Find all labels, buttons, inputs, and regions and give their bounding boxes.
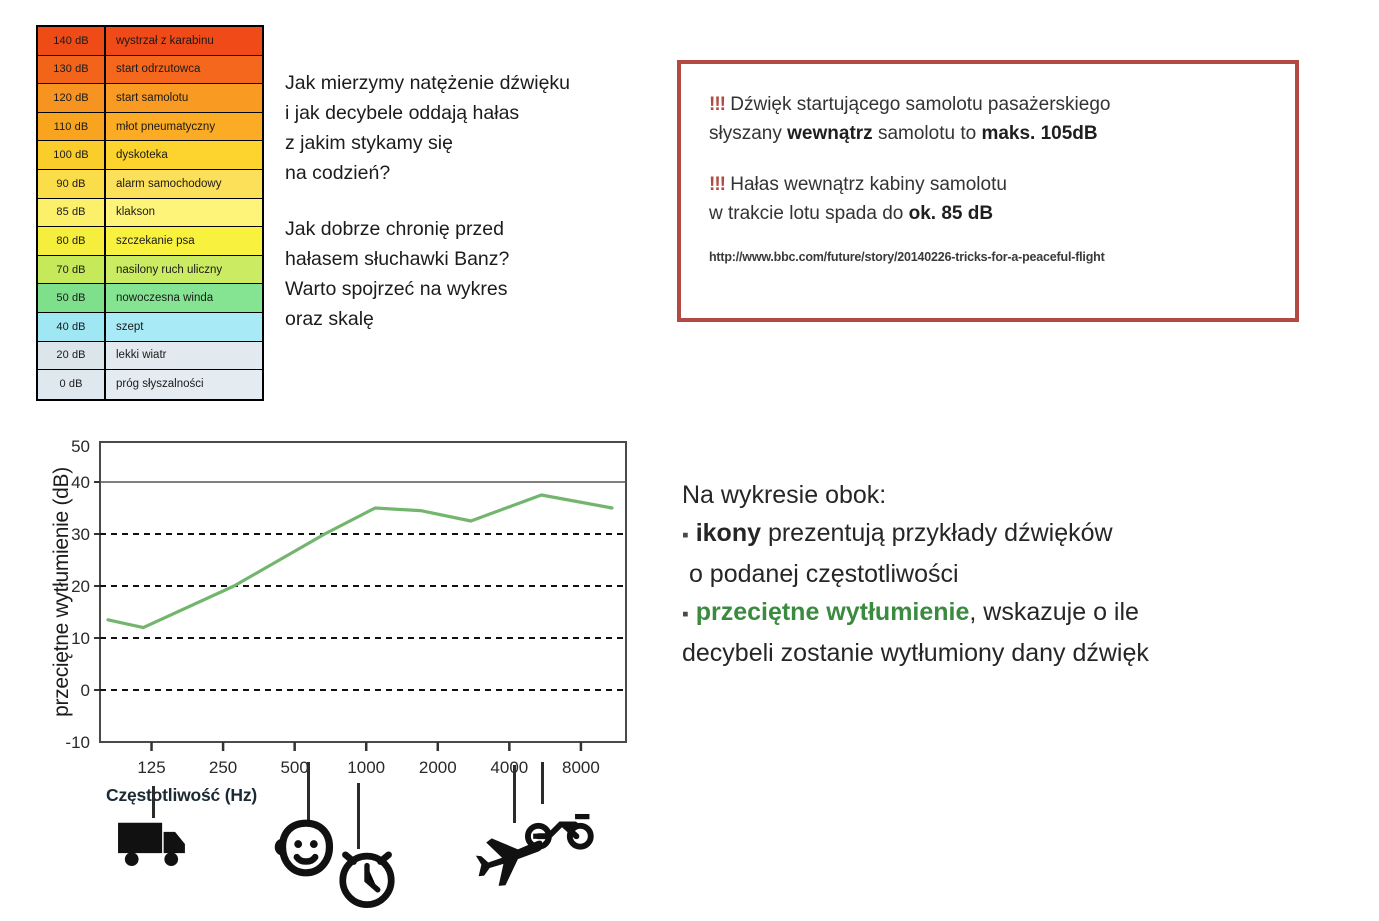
chart-x-tick-label: 125 [137, 758, 165, 777]
sound-reduction-chart: przeciętne wytłumienie (dB) Wykres reduk… [18, 430, 638, 830]
callout-line: w trakcie lotu spada do ok. 85 dB [709, 199, 1269, 228]
table-row: 40 dBszept [38, 313, 262, 342]
explain-highlight: przeciętne wytłumienie [696, 598, 970, 626]
chart-x-tick-label: 500 [280, 758, 308, 777]
db-level-cell: 110 dB [38, 113, 106, 141]
db-level-cell: 40 dB [38, 313, 106, 341]
db-description-cell: start samolotu [106, 84, 262, 112]
chart-plot-svg: 50403020100-101252505001000200040008000 [18, 430, 638, 830]
db-level-cell: 120 dB [38, 84, 106, 112]
intro-paragraph-1: Jak mierzymy natężenie dźwięku i jak dec… [285, 68, 665, 188]
db-description-cell: alarm samochodowy [106, 170, 262, 198]
icon-connector-line [152, 786, 155, 818]
db-level-cell: 100 dB [38, 141, 106, 169]
db-description-cell: klakson [106, 199, 262, 227]
callout-emphasis: ok. 85 dB [909, 203, 993, 224]
db-level-cell: 70 dB [38, 256, 106, 284]
chart-y-tick-label: 10 [71, 629, 90, 648]
db-description-cell: nowoczesna winda [106, 284, 262, 312]
db-description-cell: wystrzał z karabinu [106, 27, 262, 55]
chart-x-tick-label: 8000 [562, 758, 600, 777]
callout-block-1: !!! Dźwięk startującego samolotu pasażer… [709, 90, 1269, 148]
chart-x-tick-label: 250 [209, 758, 237, 777]
intro-line: Jak mierzymy natężenie dźwięku [285, 68, 665, 98]
chart-x-tick-label: 2000 [419, 758, 457, 777]
icon-connector-line [541, 762, 544, 804]
db-description-cell: próg słyszalności [106, 370, 262, 399]
db-description-cell: szczekanie psa [106, 227, 262, 255]
callout-block-2: !!! Hałas wewnątrz kabiny samolotu w tra… [709, 170, 1269, 228]
exclamation-marks: !!! [709, 94, 725, 115]
table-row: 0 dBpróg słyszalności [38, 370, 262, 399]
table-row: 120 dBstart samolotu [38, 84, 262, 113]
chart-y-tick-label: 30 [71, 525, 90, 544]
db-description-cell: lekki wiatr [106, 342, 262, 370]
bullet-icon: ▪ [682, 604, 689, 625]
chart-x-tick-label: 1000 [347, 758, 385, 777]
alarm-clock-icon [333, 840, 401, 910]
table-row: 50 dBnowoczesna winda [38, 284, 262, 313]
chart-y-tick-label: -10 [65, 733, 90, 752]
chart-y-tick-label: 50 [71, 437, 90, 456]
intro-line: na codzień? [285, 158, 665, 188]
db-description-cell: szept [106, 313, 262, 341]
explain-bullet-2-cont: decybeli zostanie wytłumiony dany dźwięk [682, 634, 1302, 672]
table-row: 130 dBstart odrzutowca [38, 56, 262, 85]
explain-heading: Na wykresie obok: [682, 476, 1302, 514]
callout-line: słyszany wewnątrz samolotu to maks. 105d… [709, 119, 1269, 148]
explain-bullet-2: ▪ przeciętne wytłumienie, wskazuje o ile [682, 593, 1302, 634]
table-row: 100 dBdyskoteka [38, 141, 262, 170]
callout-emphasis: wewnątrz [787, 123, 873, 144]
chart-y-tick-label: 0 [81, 681, 90, 700]
callout-text: samolotu to [873, 123, 982, 144]
explain-text: prezentują przykłady dźwięków [761, 519, 1113, 547]
db-description-cell: start odrzutowca [106, 56, 262, 84]
bullet-icon: ▪ [682, 525, 689, 546]
callout-emphasis: maks. 105dB [981, 123, 1097, 144]
callout-text: Dźwięk startującego samolotu pasażerskie… [725, 94, 1110, 115]
motorcycle-icon [524, 806, 596, 856]
chart-x-tick-label: 4000 [490, 758, 528, 777]
truck-icon [115, 818, 191, 870]
intro-line: z jakim stykamy się [285, 128, 665, 158]
chart-explanation-block: Na wykresie obok: ▪ ikony prezentują prz… [682, 476, 1302, 672]
table-row: 20 dBlekki wiatr [38, 342, 262, 371]
warning-callout-box: !!! Dźwięk startującego samolotu pasażer… [677, 60, 1299, 322]
db-level-cell: 90 dB [38, 170, 106, 198]
explain-bullet-1: ▪ ikony prezentują przykłady dźwięków [682, 514, 1302, 555]
intro-paragraph-2: Jak dobrze chronię przed hałasem słuchaw… [285, 214, 665, 334]
callout-text: w trakcie lotu spada do [709, 203, 909, 224]
callout-line: !!! Dźwięk startującego samolotu pasażer… [709, 90, 1269, 119]
db-level-cell: 140 dB [38, 27, 106, 55]
db-level-cell: 130 dB [38, 56, 106, 84]
intro-line: hałasem słuchawki Banz? [285, 244, 665, 274]
db-description-cell: nasilony ruch uliczny [106, 256, 262, 284]
callout-text: słyszany [709, 123, 787, 144]
exclamation-marks: !!! [709, 174, 725, 195]
intro-line: Warto spojrzeć na wykres [285, 274, 665, 304]
intro-line: oraz skalę [285, 304, 665, 334]
baby-face-icon [272, 818, 340, 878]
chart-y-tick-label: 40 [71, 473, 90, 492]
table-row: 90 dBalarm samochodowy [38, 170, 262, 199]
table-row: 140 dBwystrzał z karabinu [38, 27, 262, 56]
intro-line: Jak dobrze chronię przed [285, 214, 665, 244]
intro-text-block: Jak mierzymy natężenie dźwięku i jak dec… [285, 68, 665, 334]
chart-y-tick-label: 20 [71, 577, 90, 596]
explain-bullet-1-cont: o podanej częstotliwości [682, 555, 1302, 593]
table-row: 110 dBmłot pneumatyczny [38, 113, 262, 142]
source-url-link[interactable]: http://www.bbc.com/future/story/20140226… [709, 250, 1269, 264]
icon-connector-line [307, 762, 310, 820]
db-description-cell: dyskoteka [106, 141, 262, 169]
db-level-cell: 80 dB [38, 227, 106, 255]
explain-strong: ikony [696, 519, 761, 547]
callout-line: !!! Hałas wewnątrz kabiny samolotu [709, 170, 1269, 199]
db-level-cell: 50 dB [38, 284, 106, 312]
db-level-cell: 0 dB [38, 370, 106, 399]
table-row: 80 dBszczekanie psa [38, 227, 262, 256]
db-level-cell: 85 dB [38, 199, 106, 227]
decibel-scale-table: 140 dBwystrzał z karabinu130 dBstart odr… [36, 25, 264, 401]
table-row: 85 dBklakson [38, 199, 262, 228]
icon-connector-line [513, 765, 516, 823]
callout-text: Hałas wewnątrz kabiny samolotu [725, 174, 1007, 195]
explain-text: , wskazuje o ile [969, 598, 1139, 626]
db-level-cell: 20 dB [38, 342, 106, 370]
intro-line: i jak decybele oddają hałas [285, 98, 665, 128]
db-description-cell: młot pneumatyczny [106, 113, 262, 141]
table-row: 70 dBnasilony ruch uliczny [38, 256, 262, 285]
